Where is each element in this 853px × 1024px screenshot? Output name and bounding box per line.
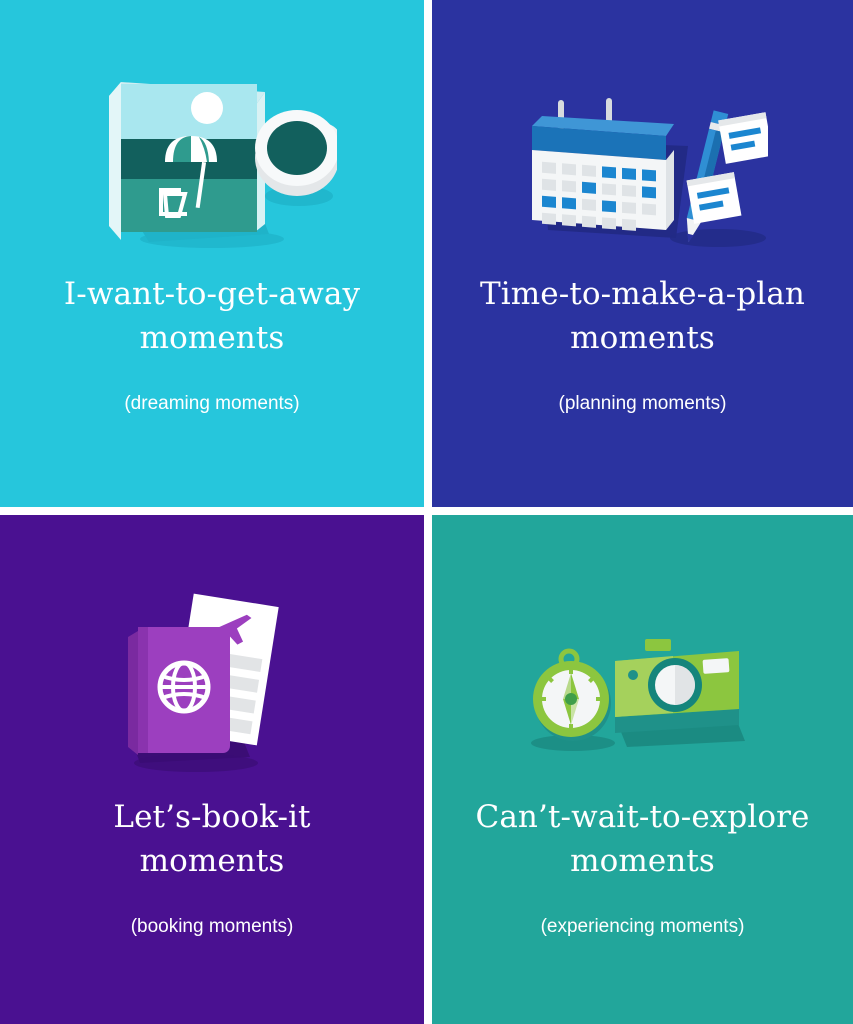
coffee-cup-icon xyxy=(255,110,337,196)
headline-dreaming: I-want-to-get-away moments xyxy=(0,272,424,360)
subtitle-dreaming: (dreaming moments) xyxy=(0,392,424,416)
compass-icon xyxy=(533,651,611,741)
camera-icon xyxy=(615,639,739,733)
passport-icon xyxy=(128,627,230,755)
subtitle-planning: (planning moments) xyxy=(432,392,853,416)
subtitle-booking: (booking moments) xyxy=(0,915,424,939)
headline-booking: Let’s-book-it moments xyxy=(0,795,424,883)
quadrant-booking[interactable]: Let’s-book-it moments (booking moments) xyxy=(0,515,424,1024)
quadrant-dreaming[interactable]: I-want-to-get-away moments (dreaming mom… xyxy=(0,0,424,507)
caption-block-exploring: Can’t-wait-to-explore moments (experienc… xyxy=(432,795,853,939)
caption-block-dreaming: I-want-to-get-away moments (dreaming mom… xyxy=(0,272,424,416)
calendar-icon xyxy=(532,98,674,231)
subtitle-exploring: (experiencing moments) xyxy=(432,915,853,939)
passport-and-ticket-illustration xyxy=(0,593,424,778)
calendar-pencil-notes-illustration xyxy=(432,98,853,258)
caption-block-planning: Time-to-make-a-plan moments (planning mo… xyxy=(432,272,853,416)
headline-exploring: Can’t-wait-to-explore moments xyxy=(432,795,853,883)
quadrant-exploring[interactable]: Can’t-wait-to-explore moments (experienc… xyxy=(432,515,853,1024)
camera-lens-icon xyxy=(648,658,702,712)
sticky-note-icon xyxy=(686,172,741,224)
quadrant-planning[interactable]: Time-to-make-a-plan moments (planning mo… xyxy=(432,0,853,507)
book-and-coffee-illustration xyxy=(0,78,424,248)
caption-block-booking: Let’s-book-it moments (booking moments) xyxy=(0,795,424,939)
headline-planning: Time-to-make-a-plan moments xyxy=(432,272,853,360)
compass-and-camera-illustration xyxy=(432,623,853,768)
sticky-note-icon xyxy=(718,112,768,164)
moments-grid: I-want-to-get-away moments (dreaming mom… xyxy=(0,0,853,1024)
